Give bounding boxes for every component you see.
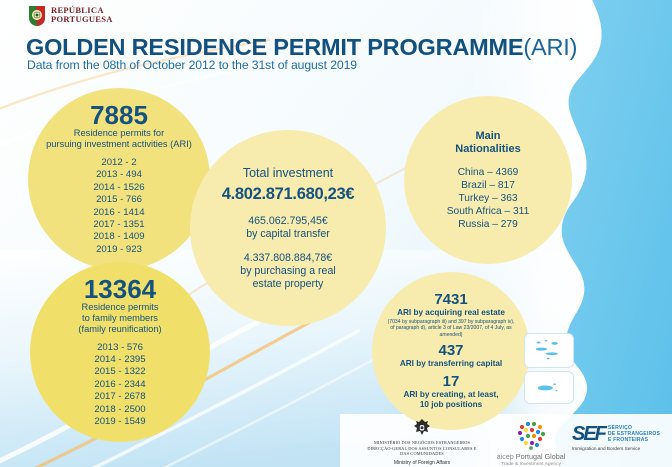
ari-real-estate-block: 7431 ARI by acquiring real estate (7034 … <box>387 292 515 338</box>
nationalities-list: China – 4369 Brazil – 817 Turkey – 363 S… <box>447 166 530 231</box>
capital-transfer-amount: 465.062.795,45€ <box>246 215 330 228</box>
republica-portuguesa-wordmark: REPÚBLICA PORTUGUESA <box>51 6 113 25</box>
aicep-name-rest: Portugal Global <box>514 452 566 461</box>
investment-permits-total: 7885 <box>90 102 148 128</box>
mne-line-1: MINISTÉRIO DOS NEGÓCIOS ESTRANGEIROS <box>356 440 488 446</box>
circle-ari-types: 7431 ARI by acquiring real estate (7034 … <box>372 272 530 430</box>
aicep-globe-icon <box>515 418 547 450</box>
list-item: 2013 - 576 <box>94 342 145 354</box>
ari-jobs-label-line2: 10 job positions <box>403 400 498 410</box>
nationalities-title-line2: Nationalities <box>455 143 520 156</box>
real-estate-label-line2: estate property <box>240 278 335 291</box>
real-estate-block: 4.337.808.884,78€ by purchasing a real e… <box>240 252 335 291</box>
nationalities-title: Main Nationalities <box>455 130 520 156</box>
ari-jobs-block: 17 ARI by creating, at least, 10 job pos… <box>403 374 498 410</box>
list-item: 2014 - 2395 <box>94 354 145 366</box>
total-investment-label: Total investment <box>243 166 333 180</box>
ari-real-estate-count: 7431 <box>387 292 515 308</box>
investment-permits-caption-line2: pursuing investment activities (ARI) <box>46 139 192 150</box>
real-estate-amount: 4.337.808.884,78€ <box>240 252 335 265</box>
family-permits-caption-line1: Residence permits <box>78 302 161 313</box>
investment-permits-caption-line1: Residence permits for <box>46 128 192 139</box>
nationalities-title-line1: Main <box>455 130 520 143</box>
list-item: Brazil – 817 <box>447 179 530 192</box>
family-permits-caption-line2: to family members <box>78 313 161 324</box>
list-item: 2019 - 1549 <box>94 416 145 428</box>
ari-capital-block: 437 ARI by transferring capital <box>400 343 502 369</box>
mne-subtitle: Ministry of Foreign Affairs <box>356 460 488 466</box>
azores-islands-inset <box>524 333 574 368</box>
ministry-foreign-affairs-logo: MINISTÉRIO DOS NEGÓCIOS ESTRANGEIROS DIR… <box>356 418 488 466</box>
list-item: 2017 - 1351 <box>93 219 144 231</box>
list-item: 2016 - 2344 <box>94 379 145 391</box>
aicep-portugal-global-logo: aicep Portugal Global Trade & Investment… <box>493 418 569 467</box>
total-investment-amount: 4.802.871.680,23€ <box>222 185 355 204</box>
list-item: 2017 - 2678 <box>94 391 145 403</box>
sef-name-line3: E FRONTEIRAS <box>608 437 660 443</box>
ari-real-estate-label: ARI by acquiring real estate <box>387 308 515 318</box>
circle-total-investment: Total investment 4.802.871.680,23€ 465.0… <box>190 130 386 326</box>
investment-permits-caption: Residence permits for pursuing investmen… <box>46 128 192 150</box>
list-item: China – 4369 <box>447 166 530 179</box>
list-item: South Africa – 311 <box>447 205 530 218</box>
list-item: 2019 - 923 <box>93 244 144 256</box>
investment-permits-year-list: 2012 - 2 2013 - 494 2014 - 1526 2015 - 7… <box>93 157 144 256</box>
real-estate-label-line1: by purchasing a real <box>240 265 335 278</box>
family-permits-year-list: 2013 - 576 2014 - 2395 2015 - 1322 2016 … <box>94 342 145 429</box>
list-item: 2015 - 1322 <box>94 366 145 378</box>
republic-line-2: PORTUGUESA <box>51 15 113 25</box>
sef-subtitle: Immigration and Borders Service <box>572 446 668 451</box>
list-item: 2018 - 1409 <box>93 231 144 243</box>
list-item: 2013 - 494 <box>93 169 144 181</box>
page-title: GOLDEN RESIDENCE PERMIT PROGRAMME(ARI) <box>26 34 577 61</box>
aicep-name-prefix: aicep <box>497 452 514 461</box>
page-title-suffix: (ARI) <box>523 34 577 60</box>
list-item: 2016 - 1414 <box>93 207 144 219</box>
republica-portuguesa-logo: REPÚBLICA PORTUGUESA <box>28 4 113 26</box>
ari-capital-label: ARI by transferring capital <box>400 359 502 369</box>
ari-real-estate-footnote: (7034 by subparagraph iii) and 397 by su… <box>387 319 515 338</box>
page-subtitle: Data from the 08th of October 2012 to th… <box>27 58 357 72</box>
sef-full-name: SERVIÇO DE ESTRANGEIROS E FRONTEIRAS <box>608 425 660 444</box>
family-permits-total: 13364 <box>84 276 156 302</box>
azores-map-icon <box>525 334 573 367</box>
circle-main-nationalities: Main Nationalities China – 4369 Brazil –… <box>404 96 572 264</box>
list-item: 2014 - 1526 <box>93 182 144 194</box>
sef-wordmark: SEF <box>572 424 605 444</box>
ari-jobs-count: 17 <box>403 374 498 390</box>
family-permits-caption: Residence permits to family members (fam… <box>78 302 161 335</box>
list-item: 2012 - 2 <box>93 157 144 169</box>
madeira-islands-inset <box>524 371 574 404</box>
capital-transfer-block: 465.062.795,45€ by capital transfer <box>246 215 330 241</box>
list-item: Russia – 279 <box>447 218 530 231</box>
page-title-main: GOLDEN RESIDENCE PERMIT PROGRAMME <box>26 34 523 60</box>
ari-jobs-label-line1: ARI by creating, at least, <box>403 390 498 400</box>
family-permits-caption-line3: (family reunification) <box>78 324 161 335</box>
madeira-map-icon <box>525 372 573 403</box>
infographic-poster: REPÚBLICA PORTUGUESA GOLDEN RESIDENCE PE… <box>0 0 672 467</box>
aicep-wordmark: aicep Portugal Global <box>493 452 569 461</box>
list-item: 2015 - 766 <box>93 194 144 206</box>
capital-transfer-label: by capital transfer <box>246 228 330 241</box>
list-item: 2018 - 2500 <box>94 404 145 416</box>
ari-capital-count: 437 <box>400 343 502 359</box>
portuguese-coat-of-arms <box>412 418 432 438</box>
sef-logo: SEF SERVIÇO DE ESTRANGEIROS E FRONTEIRAS… <box>572 424 668 451</box>
circle-family-permits: 13364 Residence permits to family member… <box>30 262 210 442</box>
mne-line-3: DAS COMUNIDADES <box>356 451 488 457</box>
list-item: Turkey – 363 <box>447 192 530 205</box>
aicep-subtitle: Trade & Investment Agency <box>493 462 569 467</box>
circle-investment-permits: 7885 Residence permits for pursuing inve… <box>28 88 210 270</box>
sef-logo-row: SEF SERVIÇO DE ESTRANGEIROS E FRONTEIRAS <box>572 424 668 444</box>
republica-portuguesa-shield <box>28 4 46 26</box>
